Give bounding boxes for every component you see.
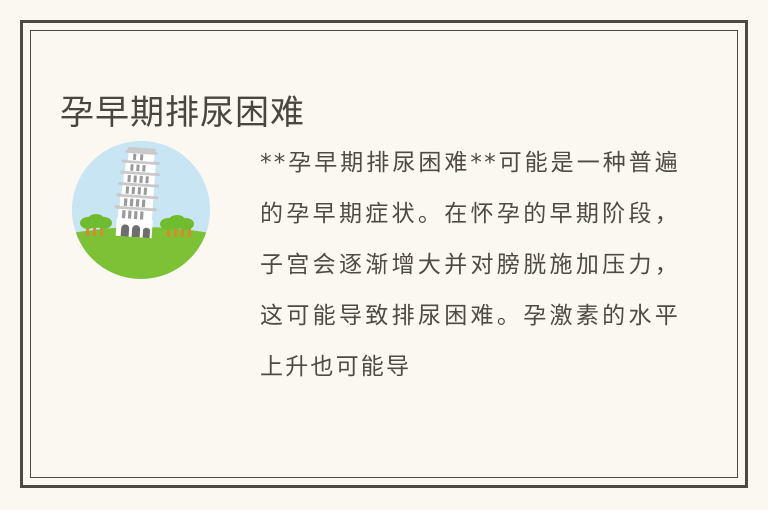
leaning-tower-of-pisa-illustration bbox=[72, 141, 210, 279]
page-title: 孕早期排尿困难 bbox=[60, 91, 305, 135]
poster-content: 孕早期排尿困难 bbox=[30, 30, 738, 478]
article-body-text: **孕早期排尿困难**可能是一种普遍的孕早期症状。在怀孕的早期阶段，子宫会逐渐增… bbox=[260, 138, 680, 393]
poster-page: 孕早期排尿困难 bbox=[0, 0, 768, 510]
article-body-area: **孕早期排尿困难**可能是一种普遍的孕早期症状。在怀孕的早期阶段，子宫会逐渐增… bbox=[60, 138, 708, 418]
